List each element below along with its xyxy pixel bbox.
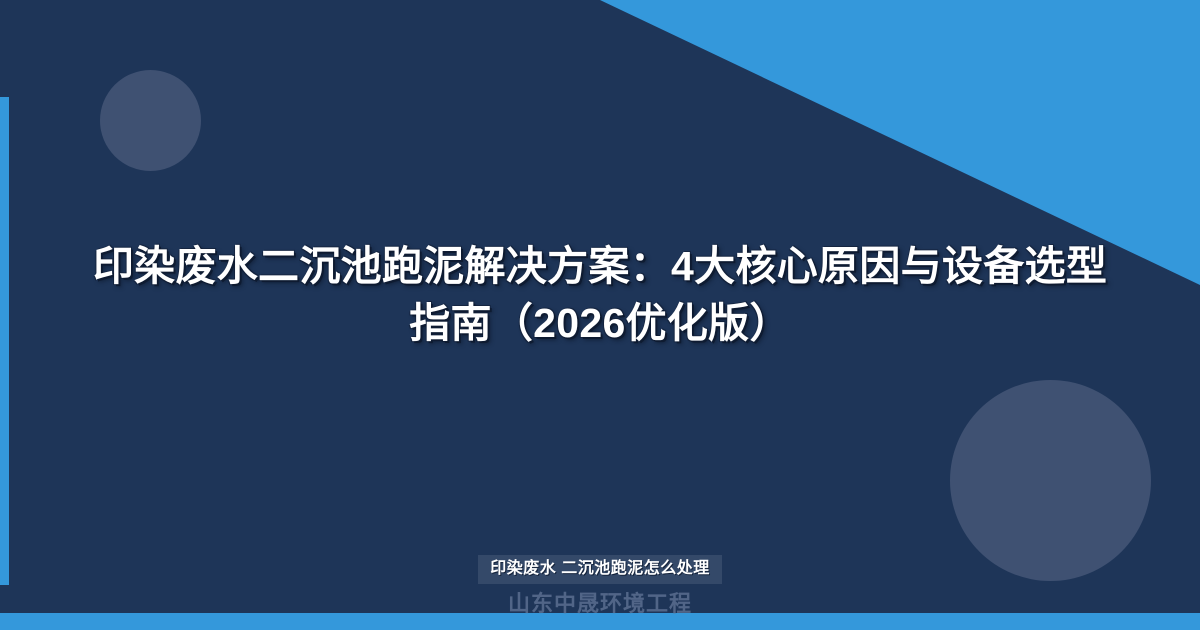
decorative-circle-bottom-right <box>950 380 1151 581</box>
keyword-tag-container: 印染废水 二沉池跑泥怎么处理 <box>0 555 1200 584</box>
keyword-tag: 印染废水 二沉池跑泥怎么处理 <box>478 555 721 584</box>
decorative-circle-top-left <box>100 70 201 171</box>
watermark-container: 山东中晟环境工程 <box>0 591 1200 617</box>
page-title-text: 印染废水二沉池跑泥解决方案：4大核心原因与设备选型指南（2026优化版） <box>80 238 1120 352</box>
cover-image-canvas: 印染废水二沉池跑泥解决方案：4大核心原因与设备选型指南（2026优化版） 印染废… <box>0 0 1200 630</box>
page-title: 印染废水二沉池跑泥解决方案：4大核心原因与设备选型指南（2026优化版） <box>0 238 1200 352</box>
brand-watermark: 山东中晟环境工程 <box>508 591 692 617</box>
